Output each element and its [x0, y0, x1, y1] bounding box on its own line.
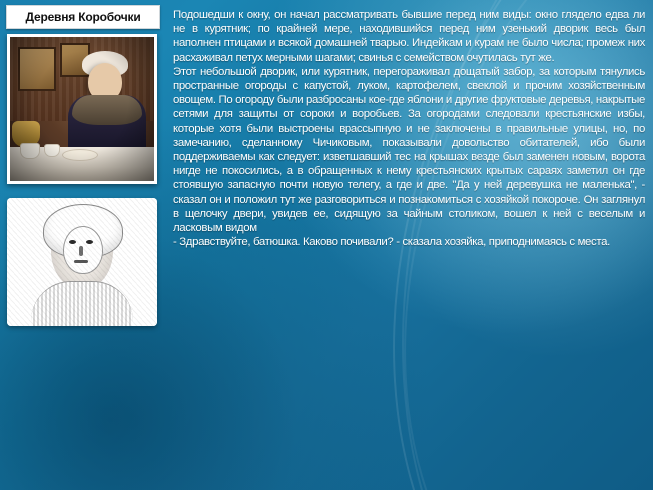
image-column — [7, 34, 159, 326]
korobochka-engraving-portrait — [7, 198, 157, 326]
body-paragraph-2: Этот небольшой дворик, или курятник, пер… — [173, 65, 645, 235]
slide-title-box: Деревня Коробочки — [6, 5, 160, 29]
body-text: Подошедши к окну, он начал рассматривать… — [173, 8, 645, 249]
engraving-hatching — [7, 198, 157, 326]
korobochka-interior-painting — [7, 34, 157, 184]
body-paragraph-3: - Здравствуйте, батюшка. Каково почивали… — [173, 235, 645, 249]
painting-vignette — [10, 37, 154, 181]
slide-canvas: Деревня Коробочки — [0, 0, 653, 490]
body-paragraph-1: Подошедши к окну, он начал рассматривать… — [173, 8, 645, 65]
page-title: Деревня Коробочки — [25, 10, 140, 24]
